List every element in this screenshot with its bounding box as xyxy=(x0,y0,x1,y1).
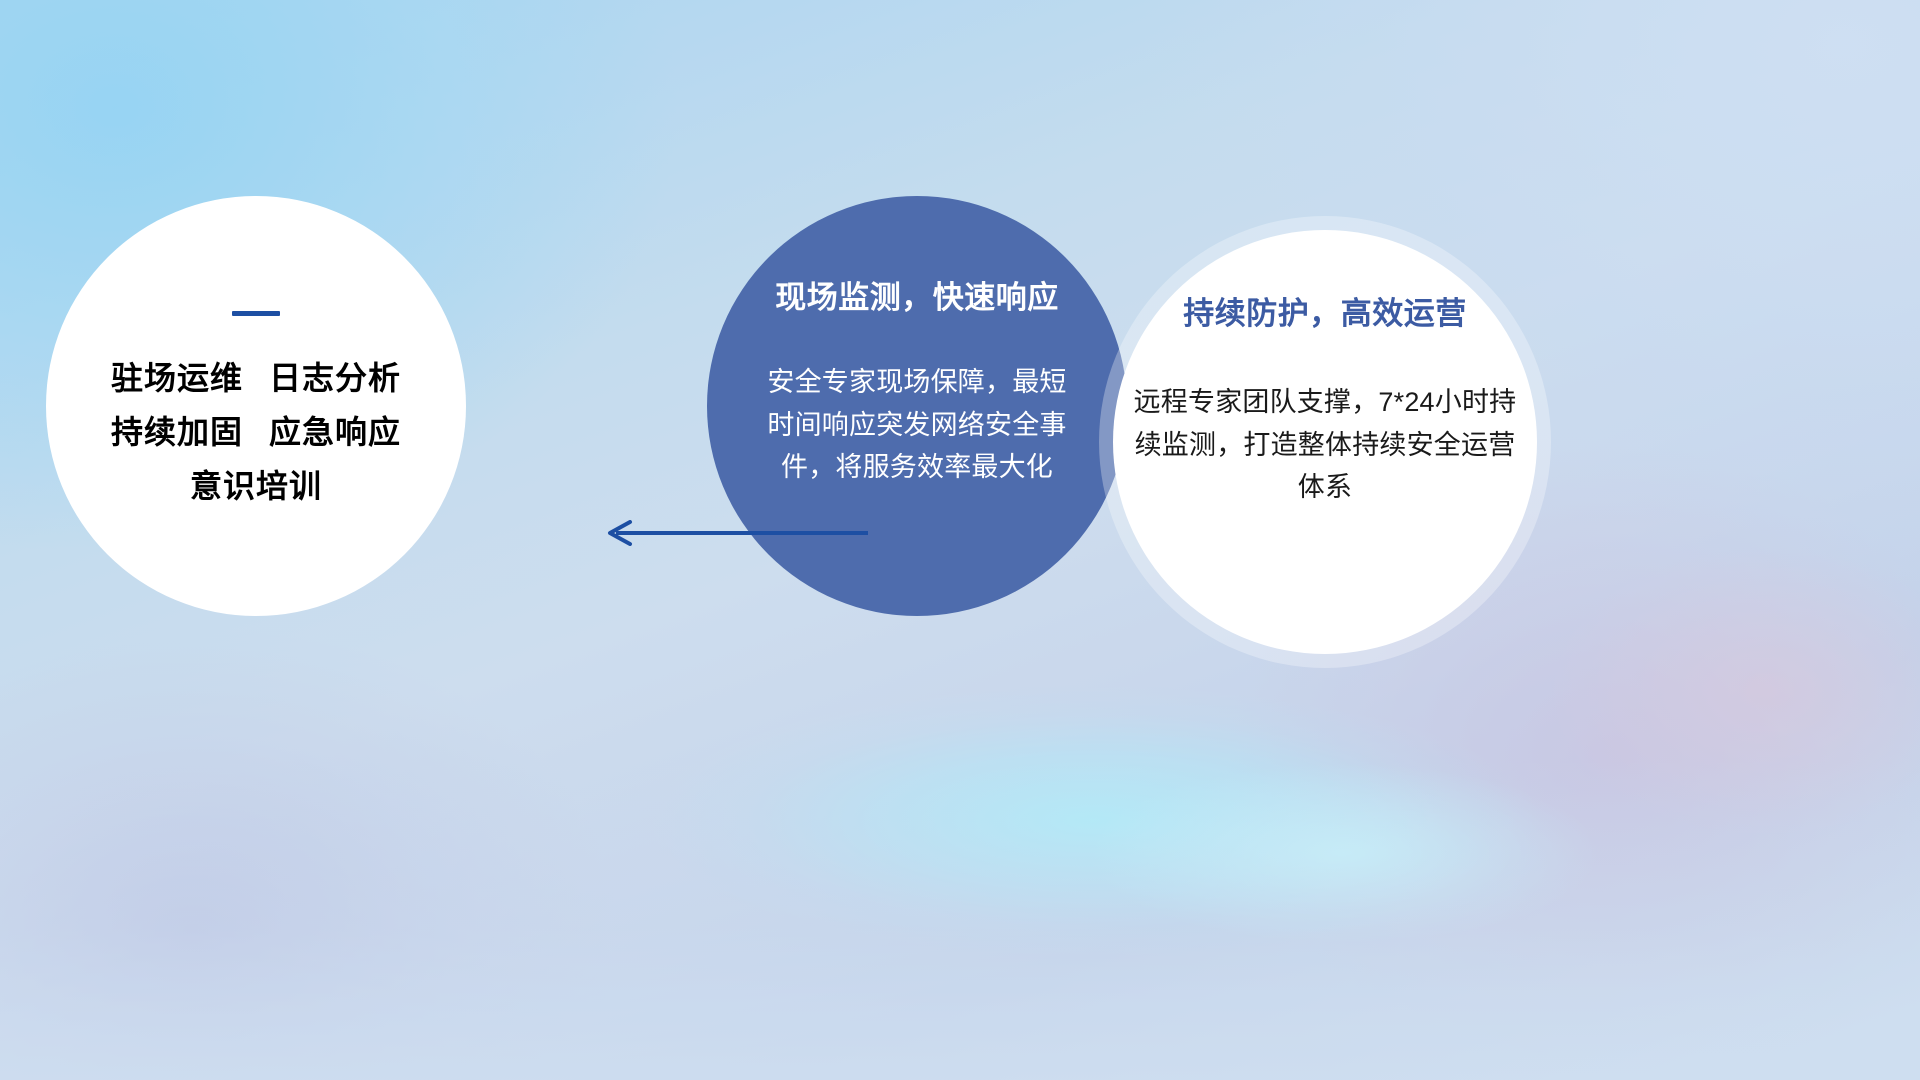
capability-row-3: 意识培训 xyxy=(190,470,322,502)
capability-label-yishipeixun: 意识培训 xyxy=(190,468,322,504)
capability-list: 驻场运维日志分析 持续加固应急响应 意识培训 xyxy=(111,362,401,502)
middle-circle-content: 现场监测，快速响应 安全专家现场保障，最短时间响应突发网络安全事件，将服务效率最… xyxy=(707,196,1127,616)
left-circle-content: 驻场运维日志分析 持续加固应急响应 意识培训 xyxy=(46,196,466,616)
capability-label-yingjixiangying: 应急响应 xyxy=(269,414,401,450)
capability-row-1: 驻场运维日志分析 xyxy=(111,362,401,394)
right-circle-title: 持续防护，高效运营 xyxy=(1183,298,1467,329)
slide-canvas: 驻场运维日志分析 持续加固应急响应 意识培训 现场监测，快速响应 安全专家现场保… xyxy=(0,0,1920,1080)
capability-label-zhuchangyunwei: 驻场运维 xyxy=(111,360,243,396)
right-circle-body: 远程专家团队支撑，7*24小时持续监测，打造整体持续安全运营体系 xyxy=(1129,381,1521,509)
accent-dash-icon xyxy=(232,311,280,316)
right-circle-content: 持续防护，高效运营 远程专家团队支撑，7*24小时持续监测，打造整体持续安全运营… xyxy=(1113,230,1537,654)
capability-label-rizhifenxi: 日志分析 xyxy=(269,360,401,396)
middle-circle-body: 安全专家现场保障，最短时间响应突发网络安全事件，将服务效率最大化 xyxy=(761,361,1073,489)
capability-row-2: 持续加固应急响应 xyxy=(111,416,401,448)
capability-label-chixujiagu: 持续加固 xyxy=(111,414,243,450)
middle-circle-title: 现场监测，快速响应 xyxy=(775,282,1059,313)
